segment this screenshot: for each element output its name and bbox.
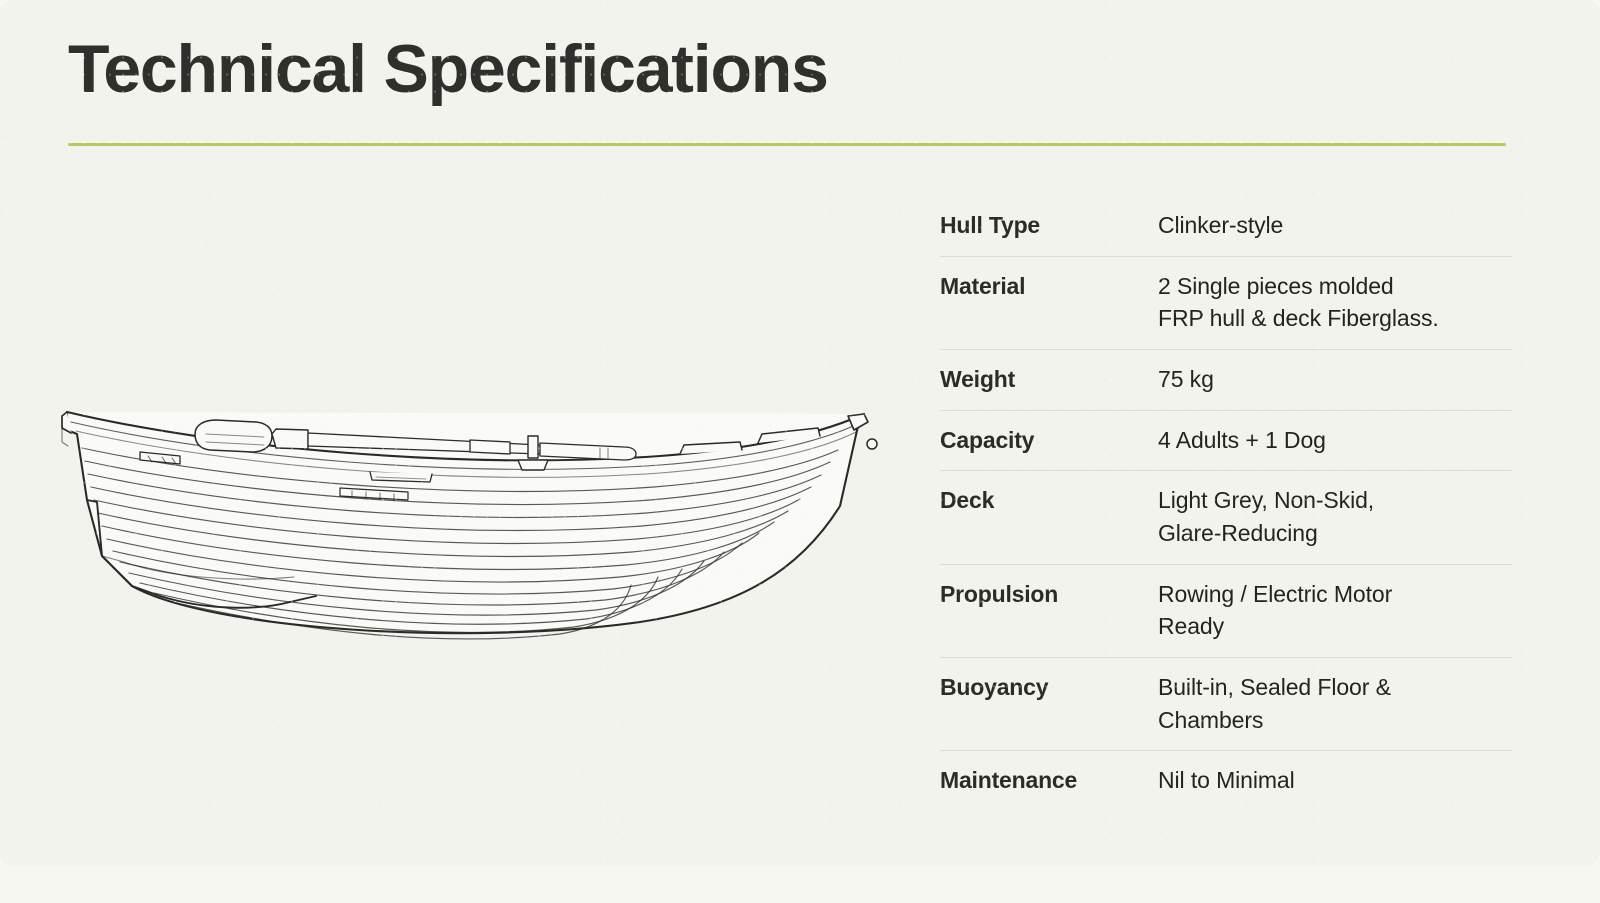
spec-value: 75 kg (1158, 363, 1512, 396)
spec-card: Technical Specifications (0, 0, 1600, 866)
slide-root: Technical Specifications (0, 0, 1600, 903)
spec-value: Light Grey, Non-Skid, Glare-Reducing (1158, 484, 1512, 549)
spec-label: Deck (940, 484, 1158, 517)
spec-row-maintenance: Maintenance Nil to Minimal (940, 751, 1512, 811)
spec-label: Capacity (940, 424, 1158, 457)
spec-row-deck: Deck Light Grey, Non-Skid, Glare-Reducin… (940, 471, 1512, 564)
spec-row-material: Material 2 Single pieces molded FRP hull… (940, 257, 1512, 350)
oarlock-base-plate (518, 460, 548, 470)
boat-line-art-svg (40, 330, 900, 650)
spec-label: Maintenance (940, 764, 1158, 797)
spec-row-hull-type: Hull Type Clinker-style (940, 196, 1512, 257)
boat-illustration (40, 330, 900, 650)
spec-label: Hull Type (940, 209, 1158, 242)
spec-label: Weight (940, 363, 1158, 396)
spec-row-buoyancy: Buoyancy Built-in, Sealed Floor & Chambe… (940, 658, 1512, 751)
spec-row-propulsion: Propulsion Rowing / Electric Motor Ready (940, 565, 1512, 658)
spec-value: 4 Adults + 1 Dog (1158, 424, 1512, 457)
oarlock-socket (528, 436, 538, 458)
spec-label: Material (940, 270, 1158, 303)
spec-value: Built-in, Sealed Floor & Chambers (1158, 671, 1512, 736)
spec-value: Rowing / Electric Motor Ready (1158, 578, 1512, 643)
spec-row-capacity: Capacity 4 Adults + 1 Dog (940, 411, 1512, 472)
bow-eye-fitting (867, 439, 877, 449)
spec-value: Clinker-style (1158, 209, 1512, 242)
page-title: Technical Specifications (68, 34, 828, 105)
spec-label: Buoyancy (940, 671, 1158, 704)
oar-collar (272, 429, 308, 449)
oar-grip (470, 440, 510, 454)
spec-value: 2 Single pieces molded FRP hull & deck F… (1158, 270, 1512, 335)
spec-label: Propulsion (940, 578, 1158, 611)
spec-row-weight: Weight 75 kg (940, 350, 1512, 411)
title-underline-rule (68, 143, 1506, 146)
spec-table: Hull Type Clinker-style Material 2 Singl… (940, 196, 1512, 811)
oar-blade (195, 420, 272, 452)
spec-value: Nil to Minimal (1158, 764, 1512, 797)
